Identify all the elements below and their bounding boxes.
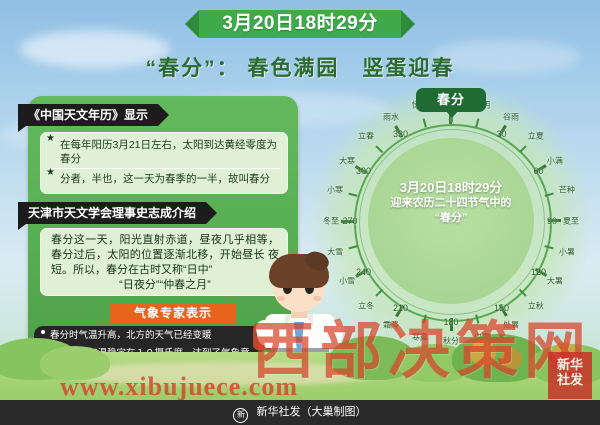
degree-label: 270: [342, 216, 357, 226]
degree-label: 60: [533, 166, 543, 176]
tag-notch: [206, 202, 217, 224]
star-icon: ★: [46, 166, 55, 180]
chunfen-bubble: 春分: [416, 88, 486, 112]
tag-ear: [18, 224, 26, 230]
star-icon: ★: [46, 132, 55, 146]
bullet-text: 在每年阳历3月21日左右，太阳到达黄经零度为春分: [60, 139, 277, 165]
bubble-pointer: [446, 111, 458, 118]
paragraph-line: “日夜分”“仲春之月”: [51, 278, 279, 293]
degree-label: 120: [531, 267, 546, 277]
bullet-dot-icon: [41, 330, 45, 334]
tag-notch: [158, 104, 169, 126]
circle-center-text: 3月20日18时29分 迎来农历二十四节气中的 “春分”: [384, 180, 518, 226]
term-label: 小寒: [327, 184, 343, 195]
xinhua-logo-icon: 新: [233, 408, 248, 423]
chunfen-bubble-label: 春分: [437, 92, 465, 107]
term-label: 大暑: [547, 276, 563, 287]
center-line-3: “春分”: [384, 211, 518, 226]
term-label: 谷雨: [503, 112, 519, 123]
term-label: 小暑: [559, 247, 575, 258]
badge-line-2: 社发: [548, 372, 592, 387]
bullet-text: 分者，半也，这一天为春季的一半，故叫春分: [60, 173, 270, 185]
center-line-1: 3月20日18时29分: [384, 180, 518, 196]
list-item: ★ 分者，半也，这一天为春季的一半，故叫春分: [40, 166, 288, 186]
center-line-2: 迎来农历二十四节气中的: [384, 196, 518, 211]
degree-label: 30: [496, 129, 506, 139]
section2-card: 春分这一天，阳光直射赤道，昼夜几乎相等， 春分过后，太阳的位置逐渐北移，开始昼长…: [40, 228, 288, 296]
xinhua-badge: 新华 社发: [548, 352, 592, 399]
section1-tag: 《中国天文年历》显示: [18, 104, 158, 126]
section2-tag: 天津市天文学会理事史志成介绍: [18, 202, 206, 224]
infographic-root: 3月20日18时29分 “春分”： 春色满园 竖蛋迎春 《中国天文年历》显示 ★…: [0, 0, 600, 425]
watermark-url: www.xibujuece.com: [60, 372, 298, 402]
bullet-text: 春分时气温升高，北方的天气已经变暖: [50, 330, 212, 341]
section2-tag-label: 天津市天文学会理事史志成介绍: [28, 206, 196, 220]
section2-paragraph: 春分这一天，阳光直射赤道，昼夜几乎相等， 春分过后，太阳的位置逐渐北移，开始昼长…: [40, 228, 288, 293]
term-label: 芒种: [559, 184, 575, 195]
term-label: 立夏: [528, 131, 544, 142]
term-label: 大寒: [339, 156, 355, 167]
title-banner: 3月20日18时29分: [185, 10, 415, 38]
paragraph-line: 春分过后，太阳的位置逐渐北移，开始昼长: [51, 249, 265, 261]
term-label: 雨水: [383, 112, 399, 123]
term-label: 冬至: [323, 216, 339, 227]
term-label: 小满: [547, 156, 563, 167]
list-item: ★ 在每年阳历3月21日左右，太阳到达黄经零度为春分: [40, 132, 288, 166]
term-label: 立春: [358, 131, 374, 142]
degree-label: 330: [393, 129, 408, 139]
banner-time-text: 3月20日18时29分: [199, 10, 401, 38]
section1-tag-label: 《中国天文年历》显示: [28, 108, 148, 122]
degree-label: 240: [356, 267, 371, 277]
banner-left-tail: [185, 10, 199, 38]
section1-card: ★ 在每年阳历3月21日左右，太阳到达黄经零度为春分 ★ 分者，半也，这一天为春…: [40, 132, 288, 194]
page-subtitle: “春分”： 春色满园 竖蛋迎春: [0, 52, 600, 82]
expert-pill: 气象专家表示: [110, 303, 236, 323]
degree-label: 90: [547, 216, 557, 226]
badge-line-1: 新华: [548, 357, 592, 372]
footer-credit: 新华社发（大巢制图）: [257, 406, 367, 418]
term-label: 夏至: [563, 216, 579, 227]
degree-label: 300: [356, 166, 371, 176]
tag-ear: [18, 126, 26, 132]
banner-right-tail: [401, 10, 415, 38]
list-item: 春分时气温升高，北方的天气已经变暖: [34, 326, 262, 345]
footer-bar: 新 新华社发（大巢制图）: [0, 400, 600, 425]
watermark-chinese: 西部决策网: [252, 300, 592, 390]
paragraph-line: 春分这一天，阳光直射赤道，昼夜几乎相等，: [51, 234, 279, 246]
